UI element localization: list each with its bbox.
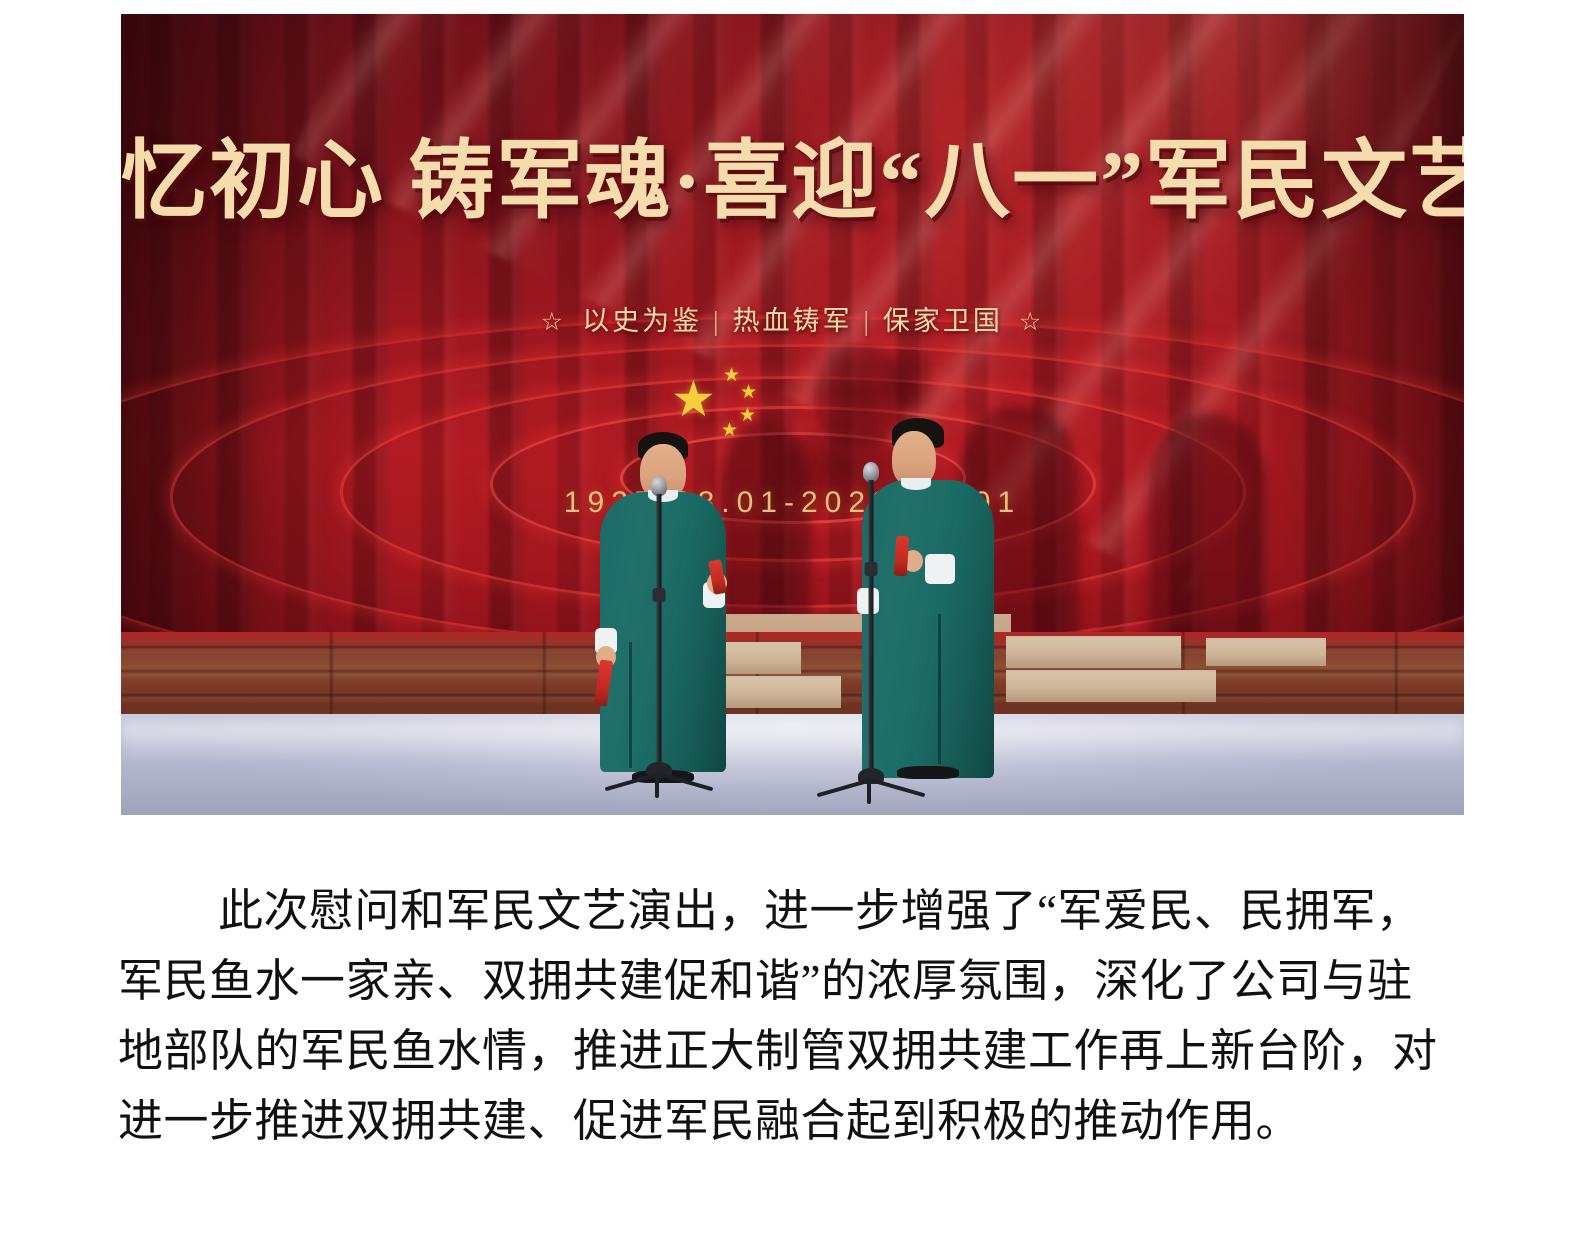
- stage-step-5: [1206, 638, 1326, 666]
- microphone-stand-right: [811, 462, 931, 792]
- flag-star-small-icon-2: ★: [740, 383, 757, 402]
- caption-line-3: 地部队的军民鱼水情，推进正大制管双拥共建工作再上新台阶，对: [118, 1016, 1454, 1086]
- cast-shadow-3: [1149, 414, 1267, 654]
- stage-floor-sheen: [121, 722, 1464, 762]
- flag-star-small-icon-3: ★: [739, 406, 756, 425]
- microphone-clamp-left: [653, 588, 666, 602]
- caption-line-4: 进一步推进双拥共建、促进军民融合起到积极的推动作用。: [118, 1086, 1454, 1156]
- star-outline-icon-right: ☆: [1019, 309, 1044, 336]
- caption-line-1-text: 此次慰问和军民文艺演出，进一步增强了“军爱民、民拥军，: [218, 886, 1421, 936]
- backdrop-subtitle-block: ☆以史为鉴|热血铸军|保家卫国☆: [121, 299, 1464, 338]
- subtitle-separator-1: |: [713, 306, 721, 336]
- backdrop-headline: 忆初心 铸军魂·喜迎“八一”军民文艺汇演: [121, 136, 1464, 226]
- microphone-head-right: [863, 462, 879, 482]
- subtitle-separator-2: |: [864, 306, 872, 336]
- stage-step-4: [1006, 670, 1216, 702]
- subtitle-item-2: 热血铸军: [733, 306, 853, 336]
- flag-star-small-icon-1: ★: [723, 366, 740, 385]
- caption-paragraph: 此次慰问和军民文艺演出，进一步增强了“军爱民、民拥军， 军民鱼水一家亲、双拥共建…: [118, 876, 1454, 1156]
- star-outline-icon-left: ☆: [541, 309, 566, 336]
- performer-right-robe-slit: [938, 614, 941, 764]
- microphone-leg-right-3: [867, 778, 871, 804]
- microphone-leg-left-3: [655, 772, 659, 798]
- caption-line-2: 军民鱼水一家亲、双拥共建促和谐”的浓厚氛围，深化了公司与驻: [118, 946, 1454, 1016]
- microphone-pole-left: [657, 494, 662, 766]
- microphone-head-left: [651, 476, 667, 496]
- stage-performance-photo: ★ ★ ★ ★ ★ 1927.08.01-2022.08.01 忆初心 铸军魂·…: [121, 14, 1464, 815]
- stage-floor: [121, 714, 1464, 815]
- microphone-stand-left: [599, 476, 719, 786]
- subtitle-item-3: 保家卫国: [883, 306, 1003, 336]
- flag-star-large-icon: ★: [671, 374, 716, 424]
- backdrop-date-range: 1927.08.01-2022.08.01: [121, 486, 1464, 520]
- subtitle-item-1: 以史为鉴: [582, 306, 702, 336]
- stage-step-3: [1006, 636, 1181, 668]
- backdrop-headline-block: 忆初心 铸军魂·喜迎“八一”军民文艺汇演: [121, 136, 1464, 226]
- microphone-pole-right: [869, 480, 874, 772]
- caption-line-1: 此次慰问和军民文艺演出，进一步增强了“军爱民、民拥军，: [118, 876, 1454, 946]
- microphone-clamp-right: [865, 562, 878, 576]
